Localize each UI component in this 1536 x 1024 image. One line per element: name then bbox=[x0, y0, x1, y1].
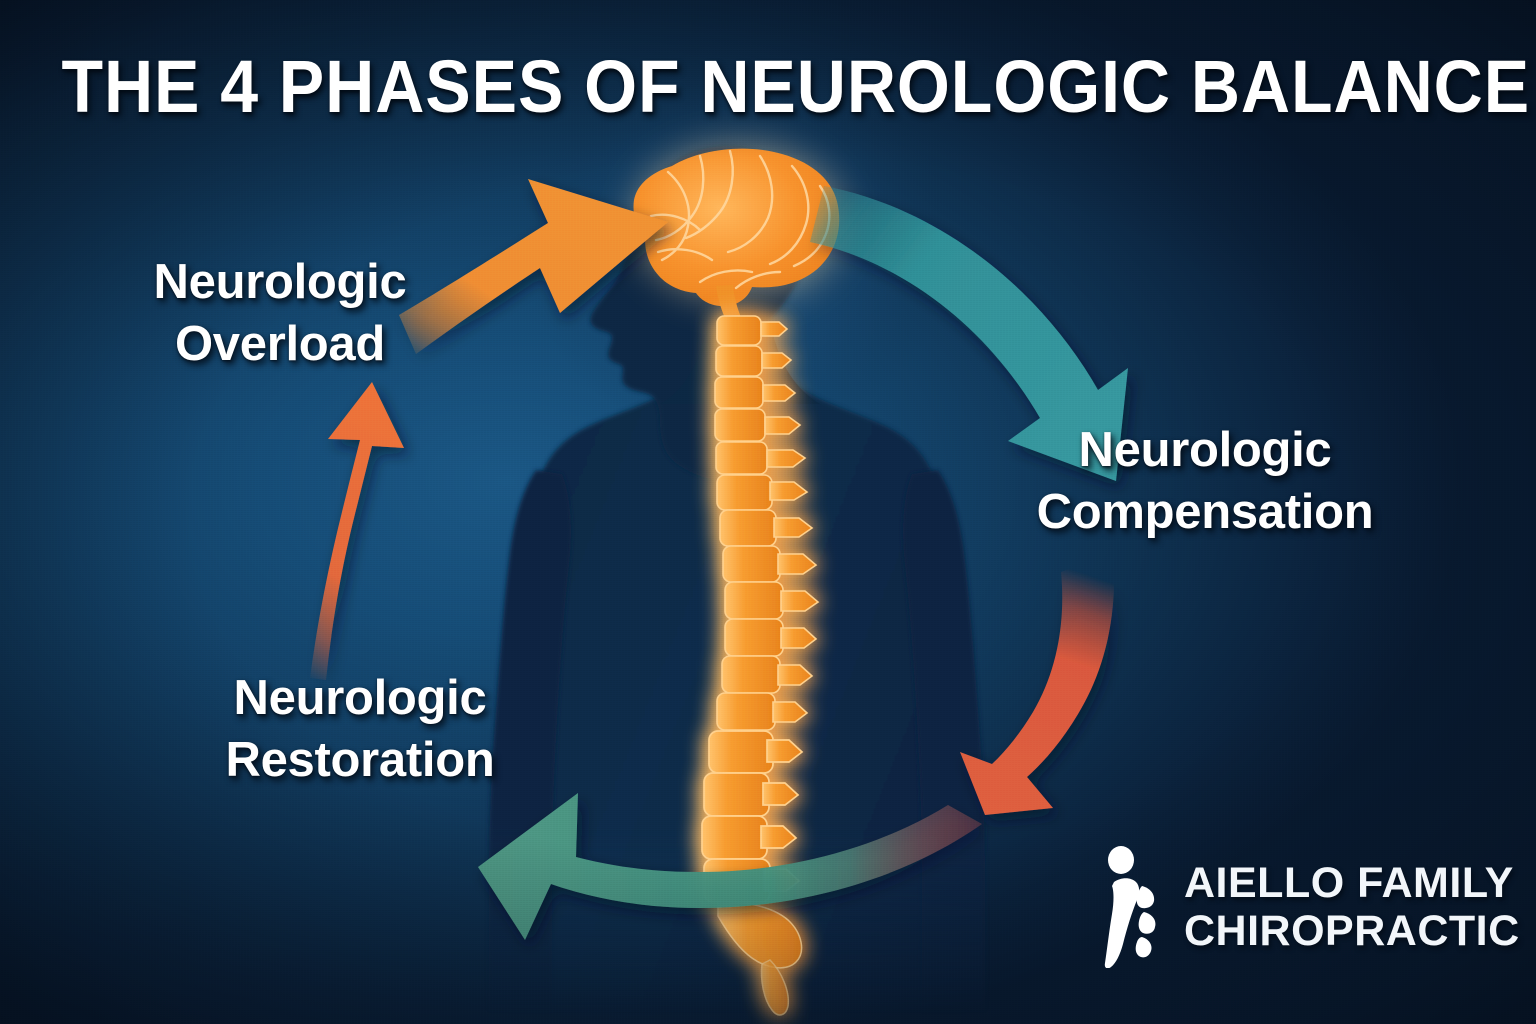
phase-label-overload-line1: Neurologic bbox=[95, 252, 465, 314]
phase-label-overload: Neurologic Overload bbox=[95, 252, 465, 375]
phase-label-compensation-line1: Neurologic bbox=[980, 420, 1430, 482]
phase-label-restoration-line2: Restoration bbox=[170, 730, 550, 792]
page-title: THE 4 PHASES OF NEUROLOGIC BALANCE bbox=[61, 44, 1474, 129]
brand-name: AIELLO FAMILY CHIROPRACTIC bbox=[1184, 859, 1520, 955]
brand-name-line1: AIELLO FAMILY bbox=[1184, 859, 1520, 907]
phase-label-compensation-line2: Compensation bbox=[980, 482, 1430, 544]
infographic-canvas: THE 4 PHASES OF NEUROLOGIC BALANCE Neuro… bbox=[0, 0, 1536, 1024]
phase-label-restoration: Neurologic Restoration bbox=[170, 668, 550, 791]
spine-figure-icon bbox=[1100, 846, 1162, 968]
phase-label-restoration-line1: Neurologic bbox=[170, 668, 550, 730]
phase-label-overload-line2: Overload bbox=[95, 314, 465, 376]
brand-name-line2: CHIROPRACTIC bbox=[1184, 907, 1520, 955]
brand-logo: AIELLO FAMILY CHIROPRACTIC bbox=[1100, 846, 1520, 968]
phase-label-compensation: Neurologic Compensation bbox=[980, 420, 1430, 543]
